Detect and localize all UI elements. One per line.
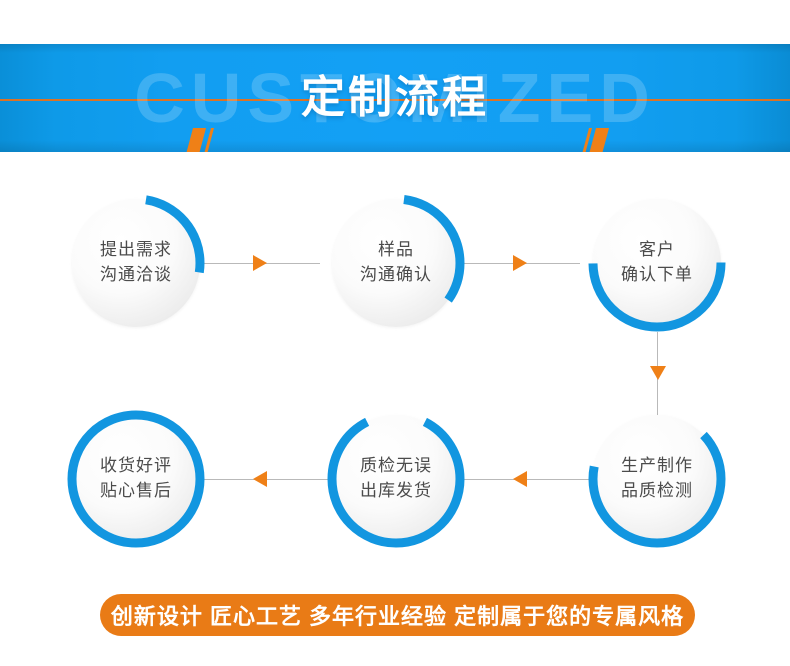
step-label: 收货好评 贴心售后 [72,415,200,543]
arrow-left-icon [513,471,527,487]
step-label-line1: 生产制作 [621,454,693,479]
process-step-1[interactable]: 提出需求 沟通洽谈 [72,199,200,327]
step-label: 生产制作 品质检测 [593,415,721,543]
header-banner: CUSTOMIZED 定制流程 [0,44,790,152]
step-label-line1: 质检无误 [360,454,432,479]
step-label-line2: 确认下单 [621,263,693,288]
process-flow-diagram: 提出需求 沟通洽谈 样品 沟通确认 客户 确认下单 [0,152,790,582]
process-step-6[interactable]: 收货好评 贴心售后 [72,415,200,543]
step-label-line2: 品质检测 [621,479,693,504]
step-label-line1: 样品 [378,238,414,263]
arrow-right-icon [513,255,527,271]
step-label: 样品 沟通确认 [332,199,460,327]
footer-tagline-banner: 创新设计 匠心工艺 多年行业经验 定制属于您的专属风格 [100,594,695,636]
step-label-line2: 沟通确认 [360,263,432,288]
step-label: 质检无误 出库发货 [332,415,460,543]
process-step-4[interactable]: 生产制作 品质检测 [593,415,721,543]
step-label: 提出需求 沟通洽谈 [72,199,200,327]
process-step-2[interactable]: 样品 沟通确认 [332,199,460,327]
process-step-3[interactable]: 客户 确认下单 [593,199,721,327]
page-title: 定制流程 [0,76,790,120]
arrow-left-icon [253,471,267,487]
arrow-right-icon [253,255,267,271]
step-label-line1: 收货好评 [100,454,172,479]
step-label-line1: 客户 [639,238,675,263]
process-step-5[interactable]: 质检无误 出库发货 [332,415,460,543]
step-label-line2: 出库发货 [360,479,432,504]
step-label-line2: 沟通洽谈 [100,263,172,288]
step-label: 客户 确认下单 [593,199,721,327]
step-label-line2: 贴心售后 [100,479,172,504]
arrow-down-icon [650,366,666,380]
step-label-line1: 提出需求 [100,238,172,263]
footer-tagline-text: 创新设计 匠心工艺 多年行业经验 定制属于您的专属风格 [111,599,684,631]
customized-process-page: CUSTOMIZED 定制流程 提出需求 沟 [0,0,790,666]
